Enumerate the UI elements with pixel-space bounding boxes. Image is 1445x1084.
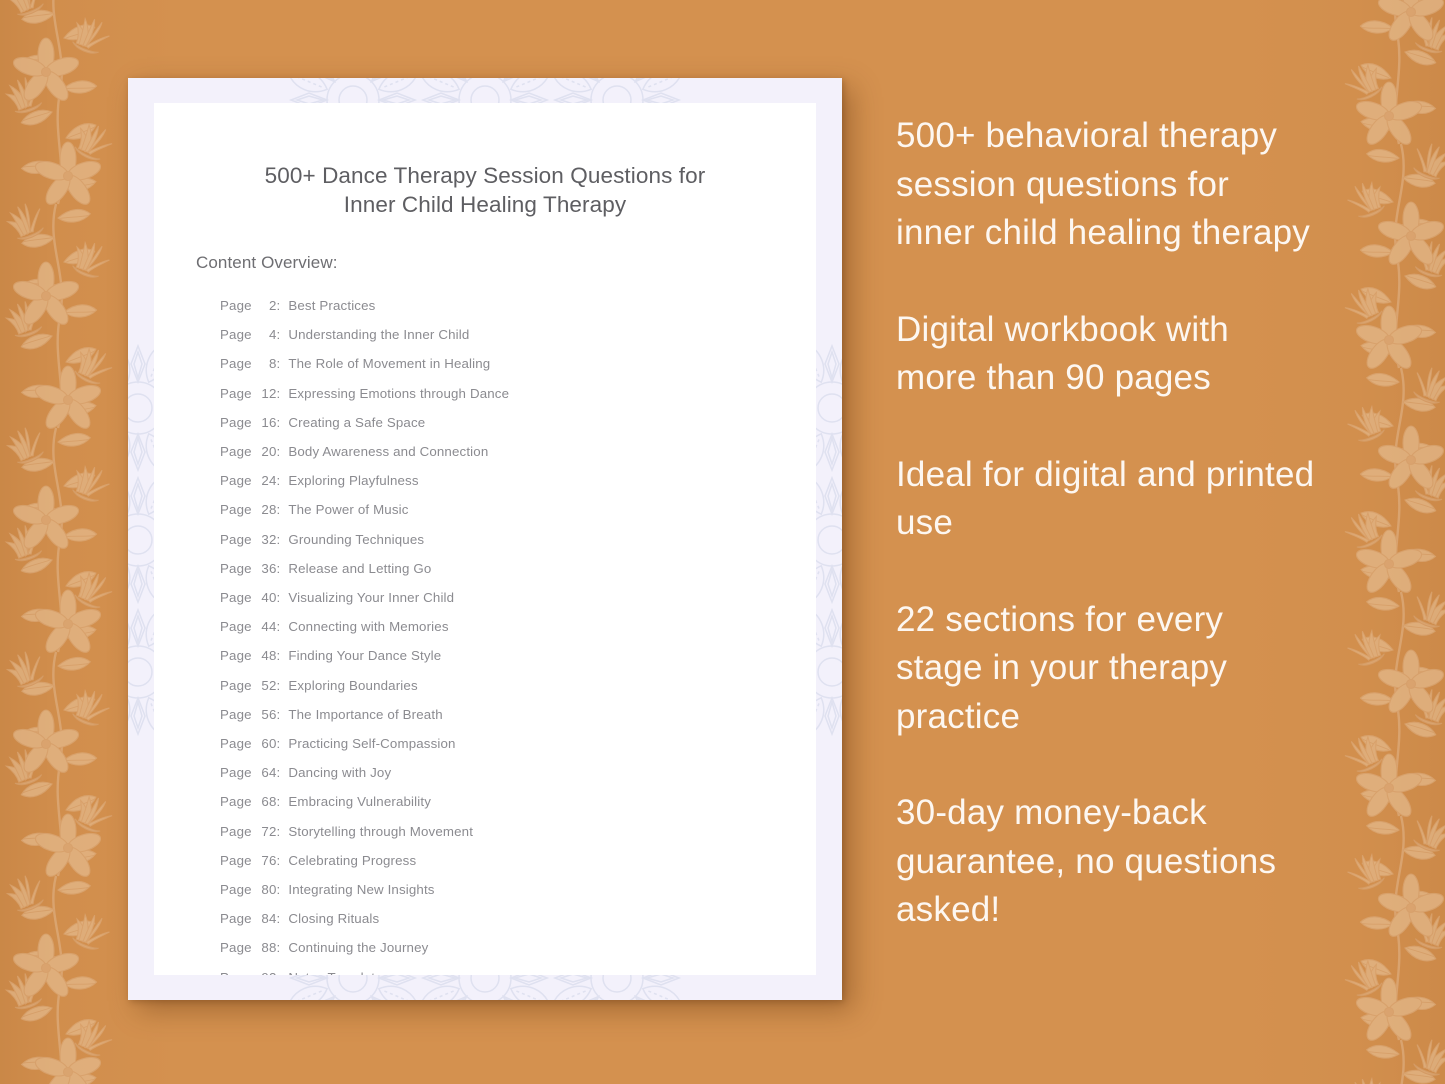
- toc-page-number: 32: [256, 525, 277, 554]
- toc-page-word: Page: [220, 787, 256, 816]
- toc-row: Page 8:The Role of Movement in Healing: [220, 349, 816, 378]
- poster-canvas: 500+ Dance Therapy Session Questions for…: [0, 0, 1445, 1084]
- content-overview-label: Content Overview:: [154, 219, 816, 273]
- toc-page-number: 36: [256, 554, 277, 583]
- toc-row: Page 68:Embracing Vulnerability: [220, 787, 816, 816]
- toc-page-number: 52: [256, 671, 277, 700]
- toc-colon: :: [277, 933, 289, 962]
- toc-row: Page 92:Notes Template: [220, 963, 816, 975]
- feature-item: Ideal for digital and printed use: [896, 451, 1316, 548]
- toc-section-title: Exploring Boundaries: [288, 671, 417, 700]
- toc-colon: :: [277, 671, 289, 700]
- toc-row: Page 88:Continuing the Journey: [220, 933, 816, 962]
- table-of-contents: Page 2:Best PracticesPage 4:Understandin…: [154, 273, 816, 975]
- toc-row: Page 56:The Importance of Breath: [220, 700, 816, 729]
- toc-colon: :: [277, 846, 289, 875]
- toc-row: Page 2:Best Practices: [220, 291, 816, 320]
- toc-colon: :: [277, 700, 289, 729]
- toc-section-title: Notes Template: [288, 963, 382, 975]
- document-page: 500+ Dance Therapy Session Questions for…: [154, 103, 816, 975]
- toc-page-word: Page: [220, 758, 256, 787]
- toc-colon: :: [277, 875, 289, 904]
- product-page-mockup: 500+ Dance Therapy Session Questions for…: [128, 78, 842, 1000]
- toc-page-word: Page: [220, 495, 256, 524]
- toc-row: Page 36:Release and Letting Go: [220, 554, 816, 583]
- toc-page-number: 72: [256, 817, 277, 846]
- toc-page-number: 84: [256, 904, 277, 933]
- toc-page-number: 40: [256, 583, 277, 612]
- feature-item: 30-day money-back guarantee, no question…: [896, 789, 1316, 935]
- toc-section-title: Finding Your Dance Style: [288, 641, 441, 670]
- toc-section-title: The Power of Music: [288, 495, 408, 524]
- toc-row: Page 84:Closing Rituals: [220, 904, 816, 933]
- toc-page-word: Page: [220, 408, 256, 437]
- toc-page-word: Page: [220, 612, 256, 641]
- toc-page-number: 68: [256, 787, 277, 816]
- toc-section-title: Celebrating Progress: [288, 846, 416, 875]
- toc-colon: :: [277, 320, 289, 349]
- toc-page-number: 28: [256, 495, 277, 524]
- toc-row: Page 52:Exploring Boundaries: [220, 671, 816, 700]
- toc-row: Page 4:Understanding the Inner Child: [220, 320, 816, 349]
- toc-colon: :: [277, 466, 289, 495]
- toc-colon: :: [277, 904, 289, 933]
- toc-page-word: Page: [220, 320, 256, 349]
- toc-colon: :: [277, 495, 289, 524]
- toc-page-number: 24: [256, 466, 277, 495]
- toc-row: Page 20:Body Awareness and Connection: [220, 437, 816, 466]
- toc-section-title: Understanding the Inner Child: [288, 320, 469, 349]
- feature-list: 500+ behavioral therapy session question…: [896, 112, 1316, 935]
- toc-section-title: Integrating New Insights: [288, 875, 434, 904]
- toc-page-number: 44: [256, 612, 277, 641]
- toc-page-number: 88: [256, 933, 277, 962]
- page-title: 500+ Dance Therapy Session Questions for…: [154, 103, 816, 219]
- toc-page-word: Page: [220, 466, 256, 495]
- toc-section-title: Release and Letting Go: [288, 554, 431, 583]
- toc-page-number: 48: [256, 641, 277, 670]
- toc-section-title: Embracing Vulnerability: [288, 787, 431, 816]
- toc-row: Page 32:Grounding Techniques: [220, 525, 816, 554]
- feature-item: 500+ behavioral therapy session question…: [896, 112, 1316, 258]
- toc-page-word: Page: [220, 554, 256, 583]
- toc-colon: :: [277, 349, 289, 378]
- toc-section-title: The Role of Movement in Healing: [288, 349, 490, 378]
- toc-page-word: Page: [220, 700, 256, 729]
- toc-colon: :: [277, 817, 289, 846]
- toc-colon: :: [277, 408, 289, 437]
- toc-row: Page 64:Dancing with Joy: [220, 758, 816, 787]
- toc-row: Page 80:Integrating New Insights: [220, 875, 816, 904]
- toc-page-word: Page: [220, 641, 256, 670]
- toc-row: Page 16:Creating a Safe Space: [220, 408, 816, 437]
- toc-page-number: 64: [256, 758, 277, 787]
- toc-colon: :: [277, 379, 289, 408]
- toc-row: Page 44:Connecting with Memories: [220, 612, 816, 641]
- toc-colon: :: [277, 963, 289, 975]
- toc-section-title: Practicing Self-Compassion: [288, 729, 455, 758]
- toc-page-word: Page: [220, 846, 256, 875]
- toc-colon: :: [277, 437, 289, 466]
- toc-row: Page 60:Practicing Self-Compassion: [220, 729, 816, 758]
- toc-section-title: Exploring Playfulness: [288, 466, 418, 495]
- toc-row: Page 28:The Power of Music: [220, 495, 816, 524]
- toc-colon: :: [277, 583, 289, 612]
- toc-page-number: 20: [256, 437, 277, 466]
- floral-vine-ornament-left: [0, 0, 126, 1084]
- toc-page-number: 16: [256, 408, 277, 437]
- toc-colon: :: [277, 787, 289, 816]
- toc-section-title: Visualizing Your Inner Child: [288, 583, 454, 612]
- page-title-line-2: Inner Child Healing Therapy: [210, 190, 760, 219]
- toc-section-title: Continuing the Journey: [288, 933, 428, 962]
- toc-page-number: 76: [256, 846, 277, 875]
- toc-colon: :: [277, 525, 289, 554]
- toc-colon: :: [277, 554, 289, 583]
- toc-row: Page 72:Storytelling through Movement: [220, 817, 816, 846]
- toc-row: Page 12:Expressing Emotions through Danc…: [220, 379, 816, 408]
- toc-page-word: Page: [220, 671, 256, 700]
- toc-colon: :: [277, 291, 289, 320]
- toc-section-title: Closing Rituals: [288, 904, 379, 933]
- toc-page-word: Page: [220, 349, 256, 378]
- toc-colon: :: [277, 612, 289, 641]
- toc-page-number: 2: [256, 291, 277, 320]
- toc-colon: :: [277, 641, 289, 670]
- toc-page-word: Page: [220, 729, 256, 758]
- toc-section-title: Grounding Techniques: [288, 525, 424, 554]
- toc-section-title: Body Awareness and Connection: [288, 437, 488, 466]
- feature-item: 22 sections for every stage in your ther…: [896, 596, 1316, 742]
- toc-section-title: Best Practices: [288, 291, 375, 320]
- toc-page-word: Page: [220, 291, 256, 320]
- toc-page-number: 4: [256, 320, 277, 349]
- toc-section-title: Storytelling through Movement: [288, 817, 473, 846]
- toc-page-word: Page: [220, 963, 256, 975]
- toc-row: Page 76:Celebrating Progress: [220, 846, 816, 875]
- toc-page-word: Page: [220, 379, 256, 408]
- toc-section-title: Expressing Emotions through Dance: [288, 379, 509, 408]
- toc-page-word: Page: [220, 437, 256, 466]
- floral-vine-ornament-right: [1331, 0, 1445, 1084]
- toc-row: Page 40:Visualizing Your Inner Child: [220, 583, 816, 612]
- toc-colon: :: [277, 758, 289, 787]
- toc-row: Page 48:Finding Your Dance Style: [220, 641, 816, 670]
- toc-page-number: 8: [256, 349, 277, 378]
- toc-row: Page 24:Exploring Playfulness: [220, 466, 816, 495]
- toc-section-title: Connecting with Memories: [288, 612, 448, 641]
- toc-page-word: Page: [220, 525, 256, 554]
- toc-page-word: Page: [220, 583, 256, 612]
- toc-page-word: Page: [220, 933, 256, 962]
- toc-page-word: Page: [220, 817, 256, 846]
- toc-page-word: Page: [220, 875, 256, 904]
- toc-page-number: 92: [256, 963, 277, 975]
- toc-page-number: 12: [256, 379, 277, 408]
- toc-colon: :: [277, 729, 289, 758]
- toc-section-title: Dancing with Joy: [288, 758, 391, 787]
- feature-item: Digital workbook with more than 90 pages: [896, 306, 1316, 403]
- toc-section-title: Creating a Safe Space: [288, 408, 425, 437]
- toc-page-number: 80: [256, 875, 277, 904]
- toc-section-title: The Importance of Breath: [288, 700, 442, 729]
- toc-page-word: Page: [220, 904, 256, 933]
- toc-page-number: 60: [256, 729, 277, 758]
- page-title-line-1: 500+ Dance Therapy Session Questions for: [210, 161, 760, 190]
- toc-page-number: 56: [256, 700, 277, 729]
